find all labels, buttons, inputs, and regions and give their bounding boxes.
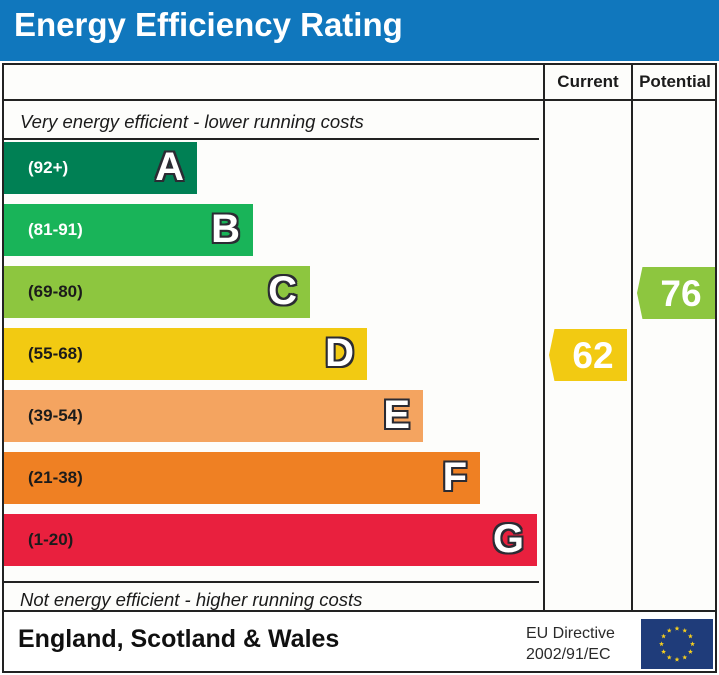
band-letter-label: A [155,147,184,187]
band-range-label: (39-54) [28,406,83,426]
band-letter-label: C [268,271,297,311]
current-rating-arrow: 62 [549,329,627,381]
rating-band-d: (55-68)D [4,328,367,380]
footer-region-label: England, Scotland & Wales [18,625,339,654]
band-range-label: (69-80) [28,282,83,302]
band-range-label: (21-38) [28,468,83,488]
rating-band-e: (39-54)E [4,390,423,442]
certificate-footer: England, Scotland & Wales EU Directive 2… [2,612,717,673]
band-range-label: (1-20) [28,530,73,550]
certificate-header: Energy Efficiency Rating [0,0,719,61]
rating-band-f: (21-38)F [4,452,480,504]
caption-not-efficient: Not energy efficient - higher running co… [20,589,362,611]
energy-efficiency-rating-certificate: Energy Efficiency Rating Current Potenti… [0,0,719,675]
potential-rating-arrow: 76 [637,267,715,319]
current-rating-value: 62 [562,337,613,374]
band-letter-label: D [325,333,354,373]
rating-band-a: (92+)A [4,142,197,194]
band-letter-label: G [493,519,524,559]
rating-bands: (92+)A(81-91)B(69-80)C(55-68)D(39-54)E(2… [4,65,539,610]
footer-directive: EU Directive 2002/91/EC [526,623,615,665]
directive-line-2: 2002/91/EC [526,644,615,665]
column-header-potential: Potential [633,72,717,92]
rating-table: Current Potential Very energy efficient … [2,63,717,612]
rating-band-g: (1-20)G [4,514,537,566]
band-range-label: (81-91) [28,220,83,240]
potential-rating-value: 76 [650,275,701,312]
caption-divider-bottom [4,581,539,583]
band-range-label: (55-68) [28,344,83,364]
band-letter-label: B [211,209,240,249]
column-header-current: Current [545,72,631,92]
band-range-label: (92+) [28,158,68,178]
directive-line-1: EU Directive [526,623,615,644]
rating-band-b: (81-91)B [4,204,253,256]
page-title: Energy Efficiency Rating [14,6,403,44]
band-letter-label: F [443,457,467,497]
column-divider-current [543,65,545,610]
column-divider-potential [631,65,633,610]
eu-flag-icon [641,619,713,669]
rating-band-c: (69-80)C [4,266,310,318]
band-letter-label: E [383,395,410,435]
